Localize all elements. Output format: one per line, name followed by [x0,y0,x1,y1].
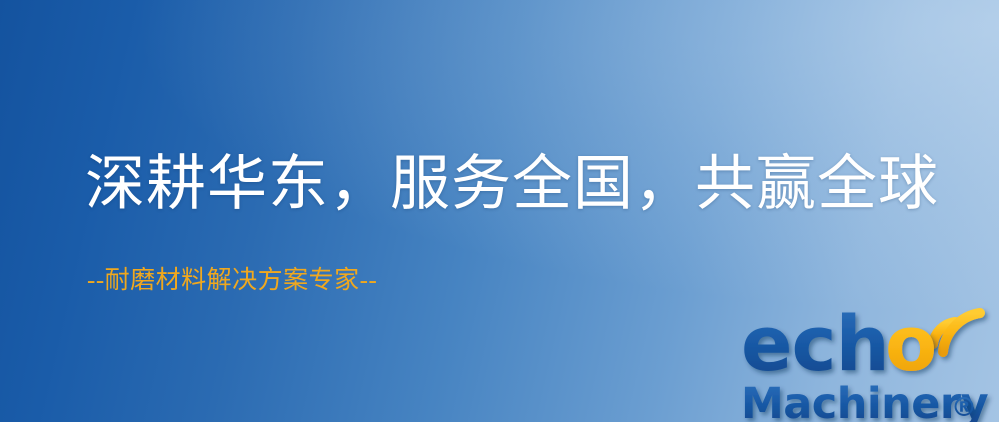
echo-machinery-logo: ech o Machinery ® [737,298,995,422]
promo-banner: 深耕华东，服务全国，共赢全球 --耐磨材料解决方案专家-- [0,0,999,422]
logo-wordmark-o-accent: o [885,299,937,388]
logo-registered-mark: ® [951,393,977,422]
banner-subtitle: --耐磨材料解决方案专家-- [87,267,377,296]
banner-headline: 深耕华东，服务全国，共赢全球 [85,152,939,217]
echo-wave-arcs [933,313,980,352]
logo-wordmark-ech: ech [741,299,889,388]
